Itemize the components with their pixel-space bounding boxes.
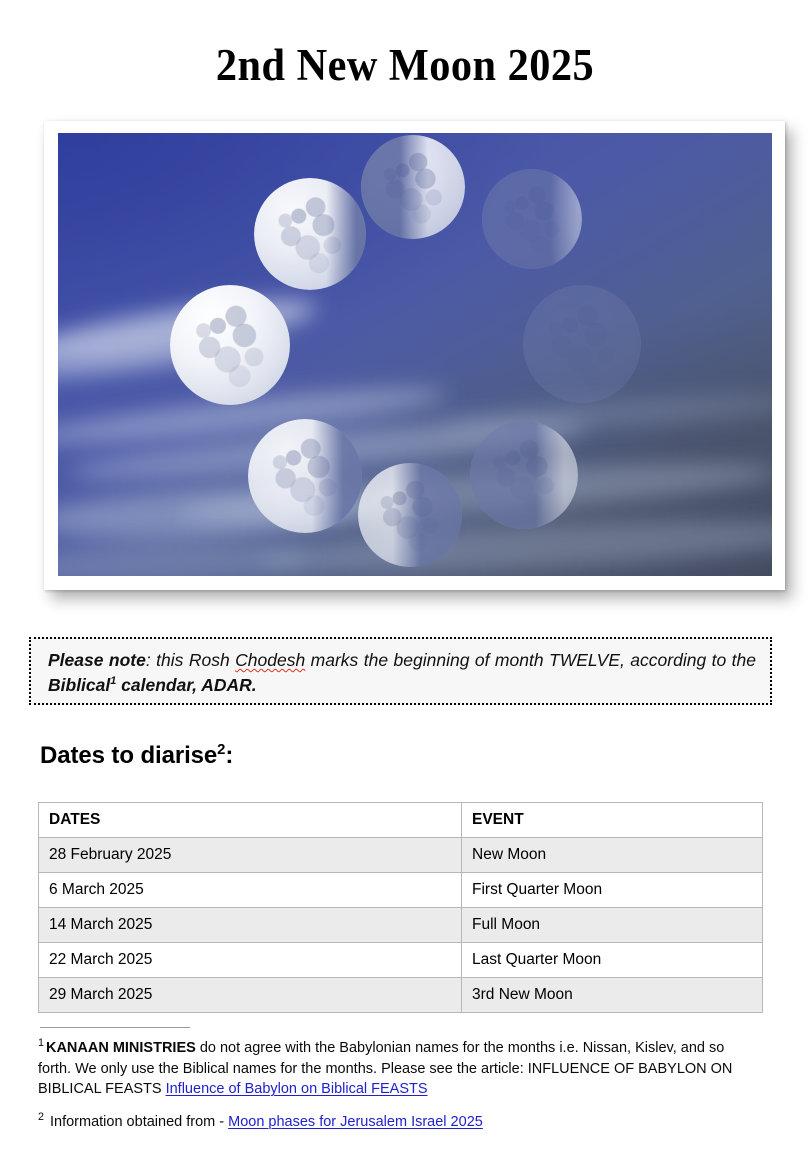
footnotes: 1KANAAN MINISTRIES do not agree with the… [38,1038,754,1132]
column-header-event: EVENT [462,803,763,838]
footnote-2: 2 Information obtained from - Moon phase… [38,1112,754,1133]
page-title: 2nd New Moon 2025 [24,38,785,92]
cell-event: Full Moon [462,908,763,943]
footnote-bold-lead: KANAAN MINISTRIES [46,1040,196,1056]
moon-phases-photograph [58,133,772,576]
cell-event: New Moon [462,838,763,873]
cell-date: 28 February 2025 [39,838,462,873]
moon-full [170,285,290,405]
section-heading: Dates to diarise2: [40,741,233,771]
cell-date: 22 March 2025 [39,943,462,978]
footnote-separator [40,1027,190,1028]
footnote-body: Information obtained from - [46,1114,228,1130]
footnote-hyperlink[interactable]: Influence of Babylon on Biblical FEASTS [166,1081,428,1097]
moon-terminator [254,178,366,290]
moon-first-quarter [358,463,462,567]
note-text-part-3: calendar, ADAR. [116,675,256,695]
moon-waxing-crescent [470,421,578,529]
table-row: 22 March 2025Last Quarter Moon [39,943,763,978]
please-note-text: Please note: this Rosh Chodesh marks the… [48,648,756,698]
column-header-dates: DATES [39,803,462,838]
footnote-1: 1KANAAN MINISTRIES do not agree with the… [38,1038,754,1100]
moon-waxing-gibbous-2 [248,419,362,533]
section-heading-suffix: : [225,742,233,769]
note-bold-word: Biblical1 calendar, ADAR. [48,675,257,695]
section-heading-text: Dates to diarise [40,742,217,769]
cell-event: First Quarter Moon [462,873,763,908]
cell-date: 14 March 2025 [39,908,462,943]
dates-table: DATES EVENT 28 February 2025New Moon6 Ma… [38,802,763,1013]
note-text-part-1: : this Rosh [146,650,235,670]
footnote-mark: 2 [38,1111,44,1123]
table-header-row: DATES EVENT [39,803,763,838]
photo-frame [44,121,785,590]
moon-terminator [482,169,582,269]
moon-last-quarter [361,135,465,239]
moon-new [523,285,641,403]
footnote-hyperlink[interactable]: Moon phases for Jerusalem Israel 2025 [228,1114,483,1130]
note-bold-word-text: Biblical [48,675,110,695]
table-row: 14 March 2025Full Moon [39,908,763,943]
moon-waning-crescent [482,169,582,269]
cell-event: 3rd New Moon [462,978,763,1013]
footnote-mark: 1 [38,1037,44,1049]
note-text-part-2: marks the beginning of month TWELVE, acc… [305,650,756,670]
table-row: 29 March 20253rd New Moon [39,978,763,1013]
moon-terminator [470,421,578,529]
cell-date: 29 March 2025 [39,978,462,1013]
spellchecked-word: Chodesh [235,650,305,670]
table-row: 6 March 2025First Quarter Moon [39,873,763,908]
moon-waxing-gibbous [254,178,366,290]
moon-terminator [523,285,641,403]
moon-terminator [248,419,362,533]
moon-terminator [358,463,462,567]
cell-event: Last Quarter Moon [462,943,763,978]
table-row: 28 February 2025New Moon [39,838,763,873]
moon-terminator [170,285,290,405]
moon-terminator [361,135,465,239]
please-note-lead: Please note [48,650,146,670]
cell-date: 6 March 2025 [39,873,462,908]
please-note-callout: Please note: this Rosh Chodesh marks the… [29,637,772,705]
